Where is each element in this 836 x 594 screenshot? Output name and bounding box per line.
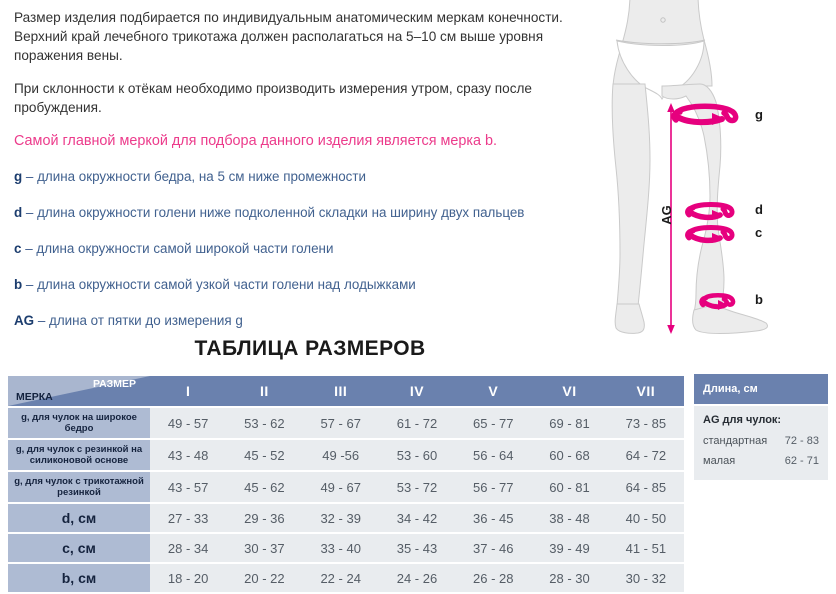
- row-label: d, см: [8, 504, 150, 532]
- definition-d: d – длина окружности голени ниже подколе…: [14, 203, 614, 222]
- length-panel-header: Длина, см: [694, 374, 828, 404]
- table-cell: 18 - 20: [150, 564, 226, 592]
- definition-key-g: g: [14, 169, 22, 184]
- table-row: b, см 18 - 20 20 - 22 22 - 24 24 - 26 26…: [8, 564, 684, 592]
- page-title: ТАБЛИЦА РАЗМЕРОВ: [0, 337, 620, 361]
- column-header-5: V: [455, 376, 531, 406]
- length-row-name: малая: [703, 455, 735, 467]
- table-cell: 60 - 81: [531, 472, 607, 502]
- length-panel: Длина, см AG для чулок: стандартная 72 -…: [694, 374, 828, 480]
- table-row: d, см 27 - 33 29 - 36 32 - 39 34 - 42 36…: [8, 504, 684, 532]
- b-label: b: [755, 292, 763, 307]
- table-cell: 33 - 40: [303, 534, 379, 562]
- definition-text-b: длина окружности самой узкой части голен…: [37, 277, 416, 292]
- definition-dash-c: –: [25, 241, 32, 256]
- table-cell: 40 - 50: [608, 504, 684, 532]
- table-cell: 36 - 45: [455, 504, 531, 532]
- column-header-4: IV: [379, 376, 455, 406]
- table-cell: 28 - 30: [531, 564, 607, 592]
- c-label: c: [755, 225, 762, 240]
- size-table-container: РАЗМЕР МЕРКА I II III IV V VI VII g, для…: [8, 374, 684, 594]
- table-cell: 64 - 85: [608, 472, 684, 502]
- table-row: g, для чулок на широкое бедро 49 - 57 53…: [8, 408, 684, 438]
- definition-ag: AG – длина от пятки до измерения g: [14, 311, 614, 330]
- table-cell: 65 - 77: [455, 408, 531, 438]
- table-cell: 49 -56: [303, 440, 379, 470]
- table-cell: 35 - 43: [379, 534, 455, 562]
- table-cell: 30 - 32: [608, 564, 684, 592]
- table-cell: 32 - 39: [303, 504, 379, 532]
- intro-paragraph-1: Размер изделия подбирается по индивидуал…: [14, 8, 614, 65]
- d-label: d: [755, 202, 763, 217]
- table-cell: 73 - 85: [608, 408, 684, 438]
- definition-dash-d: –: [26, 205, 33, 220]
- table-cell: 53 - 62: [226, 408, 302, 438]
- table-cell: 56 - 64: [455, 440, 531, 470]
- intro-paragraph-2: При склонности к отёкам необходимо произ…: [14, 79, 614, 117]
- table-cell: 28 - 34: [150, 534, 226, 562]
- table-corner-header: РАЗМЕР МЕРКА: [8, 376, 150, 406]
- table-cell: 29 - 36: [226, 504, 302, 532]
- row-label: g, для чулок на широкое бедро: [8, 408, 150, 438]
- definition-text-c: длина окружности самой широкой части гол…: [36, 241, 333, 256]
- corner-row-header-label: МЕРКА: [16, 391, 53, 403]
- definition-text-d: длина окружности голени ниже подколенной…: [37, 205, 524, 220]
- table-cell: 53 - 72: [379, 472, 455, 502]
- table-cell: 37 - 46: [455, 534, 531, 562]
- length-row-standard: стандартная 72 - 83: [703, 435, 819, 447]
- table-cell: 69 - 81: [531, 408, 607, 438]
- column-header-3: III: [303, 376, 379, 406]
- definition-key-b: b: [14, 277, 22, 292]
- leg-measurement-illustration: AG g d c: [600, 0, 836, 342]
- table-cell: 39 - 49: [531, 534, 607, 562]
- table-row: g, для чулок с резинкой на силиконовой о…: [8, 440, 684, 470]
- table-cell: 20 - 22: [226, 564, 302, 592]
- definition-dash-b: –: [26, 277, 33, 292]
- table-cell: 53 - 60: [379, 440, 455, 470]
- table-cell: 34 - 42: [379, 504, 455, 532]
- length-panel-title: AG для чулок:: [703, 414, 819, 426]
- table-cell: 43 - 48: [150, 440, 226, 470]
- table-cell: 45 - 52: [226, 440, 302, 470]
- row-label: g, для чулок с трикотажной резинкой: [8, 472, 150, 502]
- row-label: g, для чулок с резинкой на силиконовой о…: [8, 440, 150, 470]
- table-cell: 64 - 72: [608, 440, 684, 470]
- left-foot-shape: [615, 304, 644, 333]
- table-cell: 56 - 77: [455, 472, 531, 502]
- left-leg-shape: [612, 84, 650, 306]
- definition-dash-ag: –: [38, 313, 45, 328]
- table-cell: 27 - 33: [150, 504, 226, 532]
- table-row: g, для чулок с трикотажной резинкой 43 -…: [8, 472, 684, 502]
- definition-c: c – длина окружности самой широкой части…: [14, 239, 614, 258]
- column-header-7: VII: [608, 376, 684, 406]
- table-cell: 30 - 37: [226, 534, 302, 562]
- definition-b: b – длина окружности самой узкой части г…: [14, 275, 614, 294]
- definition-g: g – длина окружности бедра, на 5 см ниже…: [14, 167, 614, 186]
- length-row-name: стандартная: [703, 435, 767, 447]
- definition-text-ag: длина от пятки до измерения g: [49, 313, 243, 328]
- table-cell: 45 - 62: [226, 472, 302, 502]
- table-cell: 49 - 57: [150, 408, 226, 438]
- definition-key-d: d: [14, 205, 22, 220]
- table-header-row: РАЗМЕР МЕРКА I II III IV V VI VII: [8, 376, 684, 406]
- row-label: b, см: [8, 564, 150, 592]
- corner-column-header-label: РАЗМЕР: [93, 378, 136, 390]
- definition-text-g: длина окружности бедра, на 5 см ниже про…: [37, 169, 366, 184]
- table-cell: 57 - 67: [303, 408, 379, 438]
- length-panel-body: AG для чулок: стандартная 72 - 83 малая …: [694, 406, 828, 480]
- definition-key-c: c: [14, 241, 21, 256]
- definition-dash-g: –: [26, 169, 33, 184]
- row-label: c, см: [8, 534, 150, 562]
- length-row-value: 62 - 71: [785, 455, 819, 467]
- table-cell: 26 - 28: [455, 564, 531, 592]
- table-cell: 60 - 68: [531, 440, 607, 470]
- length-row-value: 72 - 83: [785, 435, 819, 447]
- column-header-1: I: [150, 376, 226, 406]
- table-cell: 43 - 57: [150, 472, 226, 502]
- highlight-note: Самой главной меркой для подбора данного…: [14, 131, 614, 151]
- ag-label: AG: [659, 205, 674, 225]
- table-cell: 38 - 48: [531, 504, 607, 532]
- size-table: РАЗМЕР МЕРКА I II III IV V VI VII g, для…: [8, 374, 684, 594]
- column-header-6: VI: [531, 376, 607, 406]
- table-cell: 22 - 24: [303, 564, 379, 592]
- table-cell: 61 - 72: [379, 408, 455, 438]
- right-foot-shape: [693, 304, 768, 334]
- table-row: c, см 28 - 34 30 - 37 33 - 40 35 - 43 37…: [8, 534, 684, 562]
- table-cell: 41 - 51: [608, 534, 684, 562]
- table-cell: 49 - 67: [303, 472, 379, 502]
- g-label: g: [755, 107, 763, 122]
- definition-key-ag: AG: [14, 313, 34, 328]
- table-cell: 24 - 26: [379, 564, 455, 592]
- length-row-small: малая 62 - 71: [703, 455, 819, 467]
- description-column: Размер изделия подбирается по индивидуал…: [14, 8, 614, 347]
- column-header-2: II: [226, 376, 302, 406]
